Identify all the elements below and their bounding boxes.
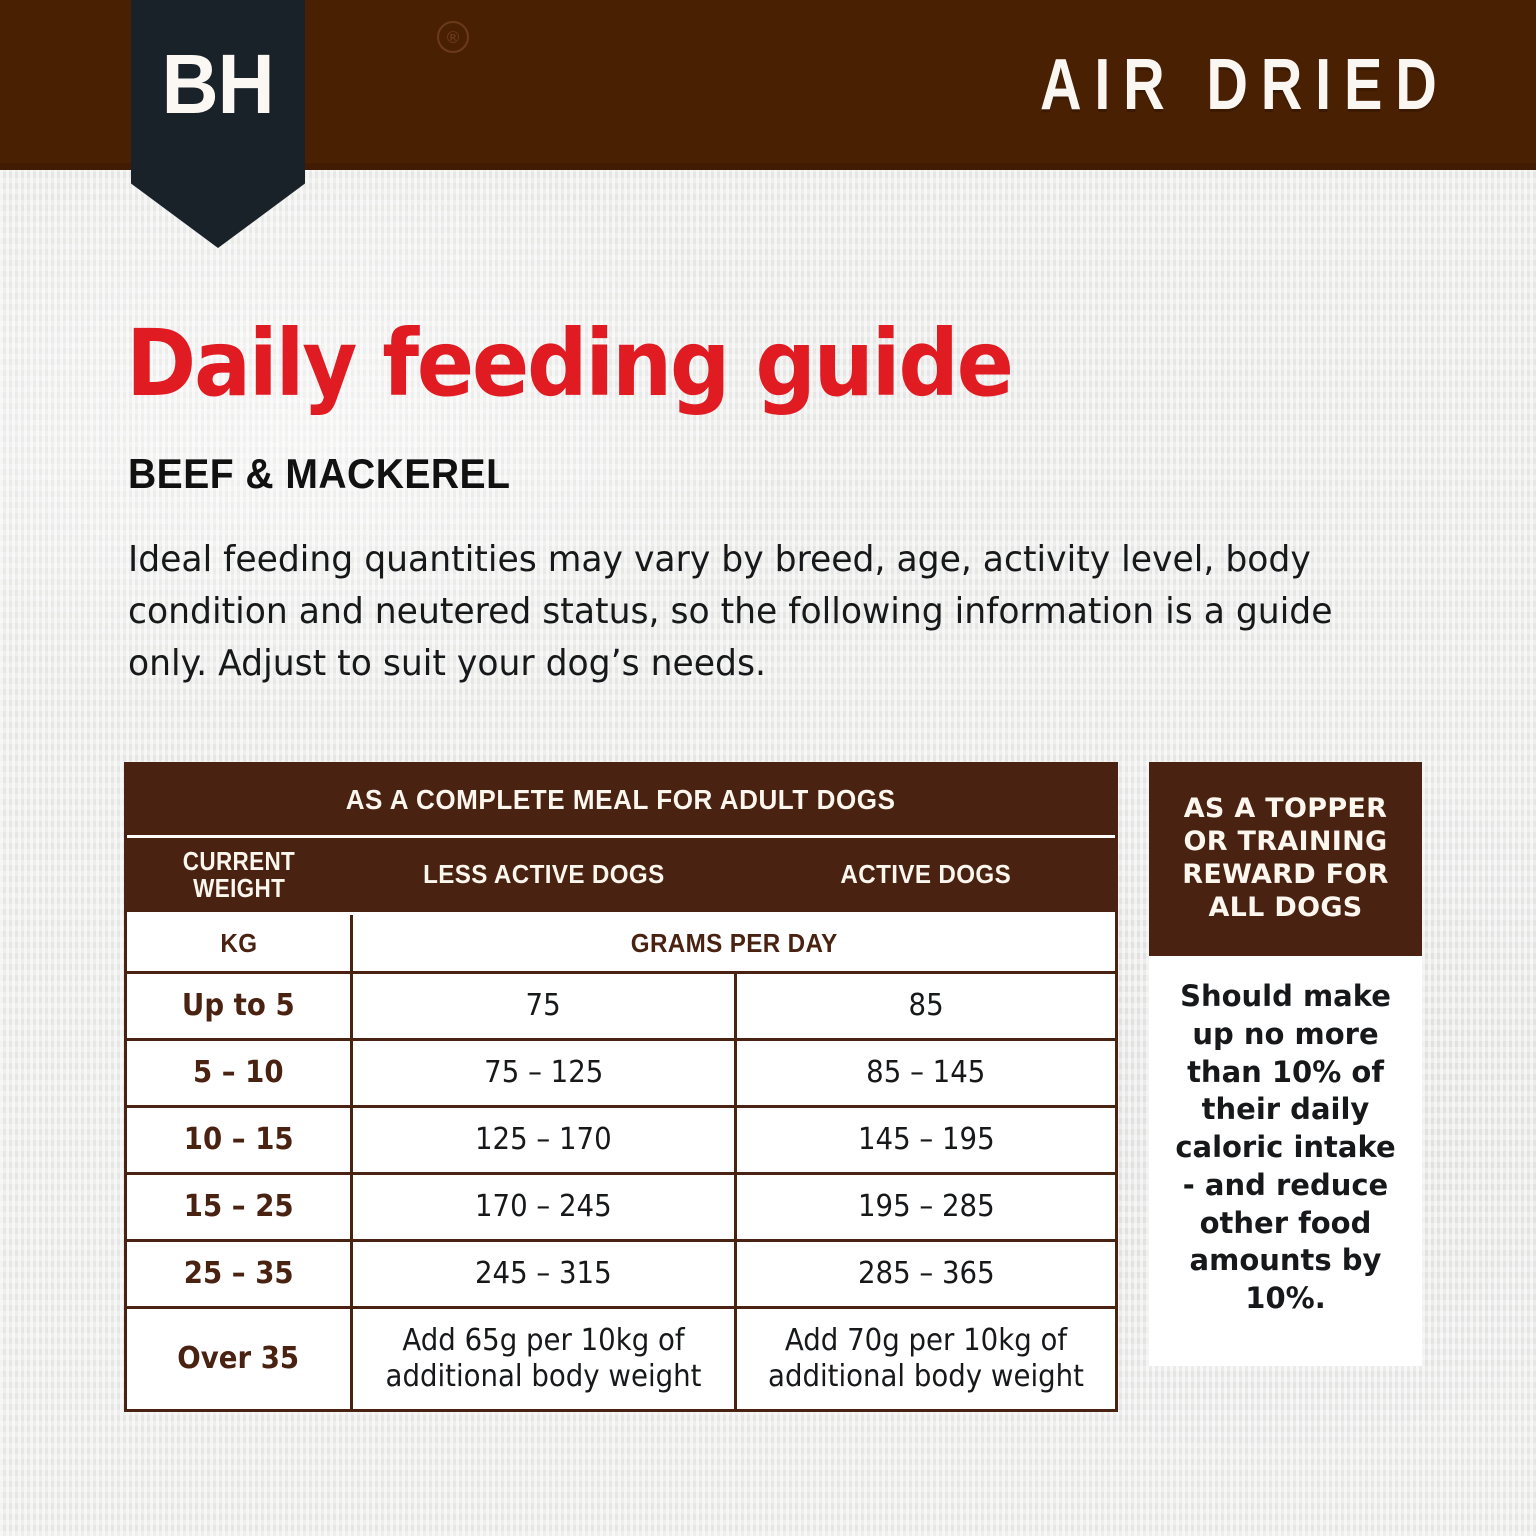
cell-active: 285 – 365 [734, 1242, 1115, 1306]
cell-active-text: Add 70g per 10kg of additional body weig… [752, 1323, 1100, 1395]
cell-weight-text: 10 – 15 [184, 1122, 294, 1158]
cell-less-active-text: 75 – 125 [484, 1055, 603, 1091]
table-banner: AS A COMPLETE MEAL FOR ADULT DOGS [127, 765, 1115, 835]
cell-active-text: 285 – 365 [858, 1256, 995, 1292]
cell-less-active-text: 75 [526, 988, 561, 1024]
registered-trademark-icon: ® [437, 21, 469, 53]
cell-active: 145 – 195 [734, 1108, 1115, 1172]
cell-active-text: 85 – 145 [866, 1055, 985, 1091]
complete-meal-table: AS A COMPLETE MEAL FOR ADULT DOGS CURREN… [124, 762, 1118, 1412]
current-weight-line2: WEIGHT [192, 875, 284, 902]
cell-weight-text: 15 – 25 [184, 1189, 294, 1225]
table-unit-row: KG GRAMS PER DAY [127, 912, 1115, 971]
product-variant-subtitle: BEEF & MACKEREL [128, 450, 510, 498]
cell-weight: 5 – 10 [127, 1041, 350, 1105]
cell-less-active: Add 65g per 10kg of additional body weig… [350, 1309, 734, 1409]
cell-less-active: 75 [350, 974, 734, 1038]
table-banner-label: AS A COMPLETE MEAL FOR ADULT DOGS [346, 784, 896, 816]
cell-less-active: 125 – 170 [350, 1108, 734, 1172]
cell-less-active-text: 245 – 315 [475, 1256, 612, 1292]
topper-reward-panel: AS A TOPPER OR TRAINING REWARD FOR ALL D… [1149, 762, 1422, 1366]
column-header-less-active-dogs: LESS ACTIVE DOGS [350, 838, 734, 912]
cell-active: Add 70g per 10kg of additional body weig… [734, 1309, 1115, 1409]
table-row: 25 – 35 245 – 315 285 – 365 [127, 1239, 1115, 1306]
cell-weight: 10 – 15 [127, 1108, 350, 1172]
cell-less-active: 75 – 125 [350, 1041, 734, 1105]
cell-active-text: 145 – 195 [858, 1122, 995, 1158]
cell-weight: Up to 5 [127, 974, 350, 1038]
column-header-less-active-label: LESS ACTIVE DOGS [423, 861, 665, 888]
cell-less-active: 170 – 245 [350, 1175, 734, 1239]
cell-less-active: 245 – 315 [350, 1242, 734, 1306]
cell-weight: 25 – 35 [127, 1242, 350, 1306]
topper-panel-heading: AS A TOPPER OR TRAINING REWARD FOR ALL D… [1149, 762, 1422, 956]
product-line-title: AIR DRIED [307, 0, 1536, 170]
table-header-row: CURRENT WEIGHT LESS ACTIVE DOGS ACTIVE D… [127, 835, 1115, 912]
unit-cell-grams-per-day: GRAMS PER DAY [350, 915, 1115, 971]
topper-panel-body: Should make up no more than 10% of their… [1149, 956, 1422, 1366]
unit-cell-kg: KG [127, 915, 350, 971]
feeding-guide-page: AIR DRIED ® BH Daily feeding guide BEEF … [0, 0, 1536, 1536]
table-row: 10 – 15 125 – 170 145 – 195 [127, 1105, 1115, 1172]
table-row: 5 – 10 75 – 125 85 – 145 [127, 1038, 1115, 1105]
table-row: Up to 5 75 85 [127, 971, 1115, 1038]
current-weight-line1: CURRENT [182, 848, 294, 875]
brand-logo-text: BH [162, 42, 274, 126]
cell-weight: 15 – 25 [127, 1175, 350, 1239]
cell-active: 195 – 285 [734, 1175, 1115, 1239]
table-row: 15 – 25 170 – 245 195 – 285 [127, 1172, 1115, 1239]
column-header-active-label: ACTIVE DOGS [841, 861, 1012, 888]
cell-weight-text: Over 35 [178, 1341, 300, 1377]
cell-weight-text: Up to 5 [182, 988, 295, 1024]
cell-active: 85 – 145 [734, 1041, 1115, 1105]
column-header-current-weight: CURRENT WEIGHT [127, 838, 350, 912]
column-header-current-weight-text: CURRENT WEIGHT [178, 848, 299, 903]
table-row: Over 35 Add 65g per 10kg of additional b… [127, 1306, 1115, 1409]
cell-less-active-text: Add 65g per 10kg of additional body weig… [368, 1323, 719, 1395]
cell-active: 85 [734, 974, 1115, 1038]
brand-logo-pennant: BH [131, 0, 305, 248]
cell-less-active-text: 170 – 245 [475, 1189, 612, 1225]
cell-less-active-text: 125 – 170 [475, 1122, 612, 1158]
cell-active-text: 195 – 285 [858, 1189, 995, 1225]
cell-active-text: 85 [908, 988, 943, 1024]
intro-paragraph: Ideal feeding quantities may vary by bre… [128, 534, 1386, 690]
page-title: Daily feeding guide [126, 318, 1012, 410]
cell-weight-text: 25 – 35 [184, 1256, 294, 1292]
unit-kg-label: KG [220, 928, 257, 959]
unit-grams-label: GRAMS PER DAY [631, 928, 838, 959]
cell-weight-text: 5 – 10 [193, 1055, 284, 1091]
column-header-active-dogs: ACTIVE DOGS [734, 838, 1115, 912]
cell-weight: Over 35 [127, 1309, 350, 1409]
